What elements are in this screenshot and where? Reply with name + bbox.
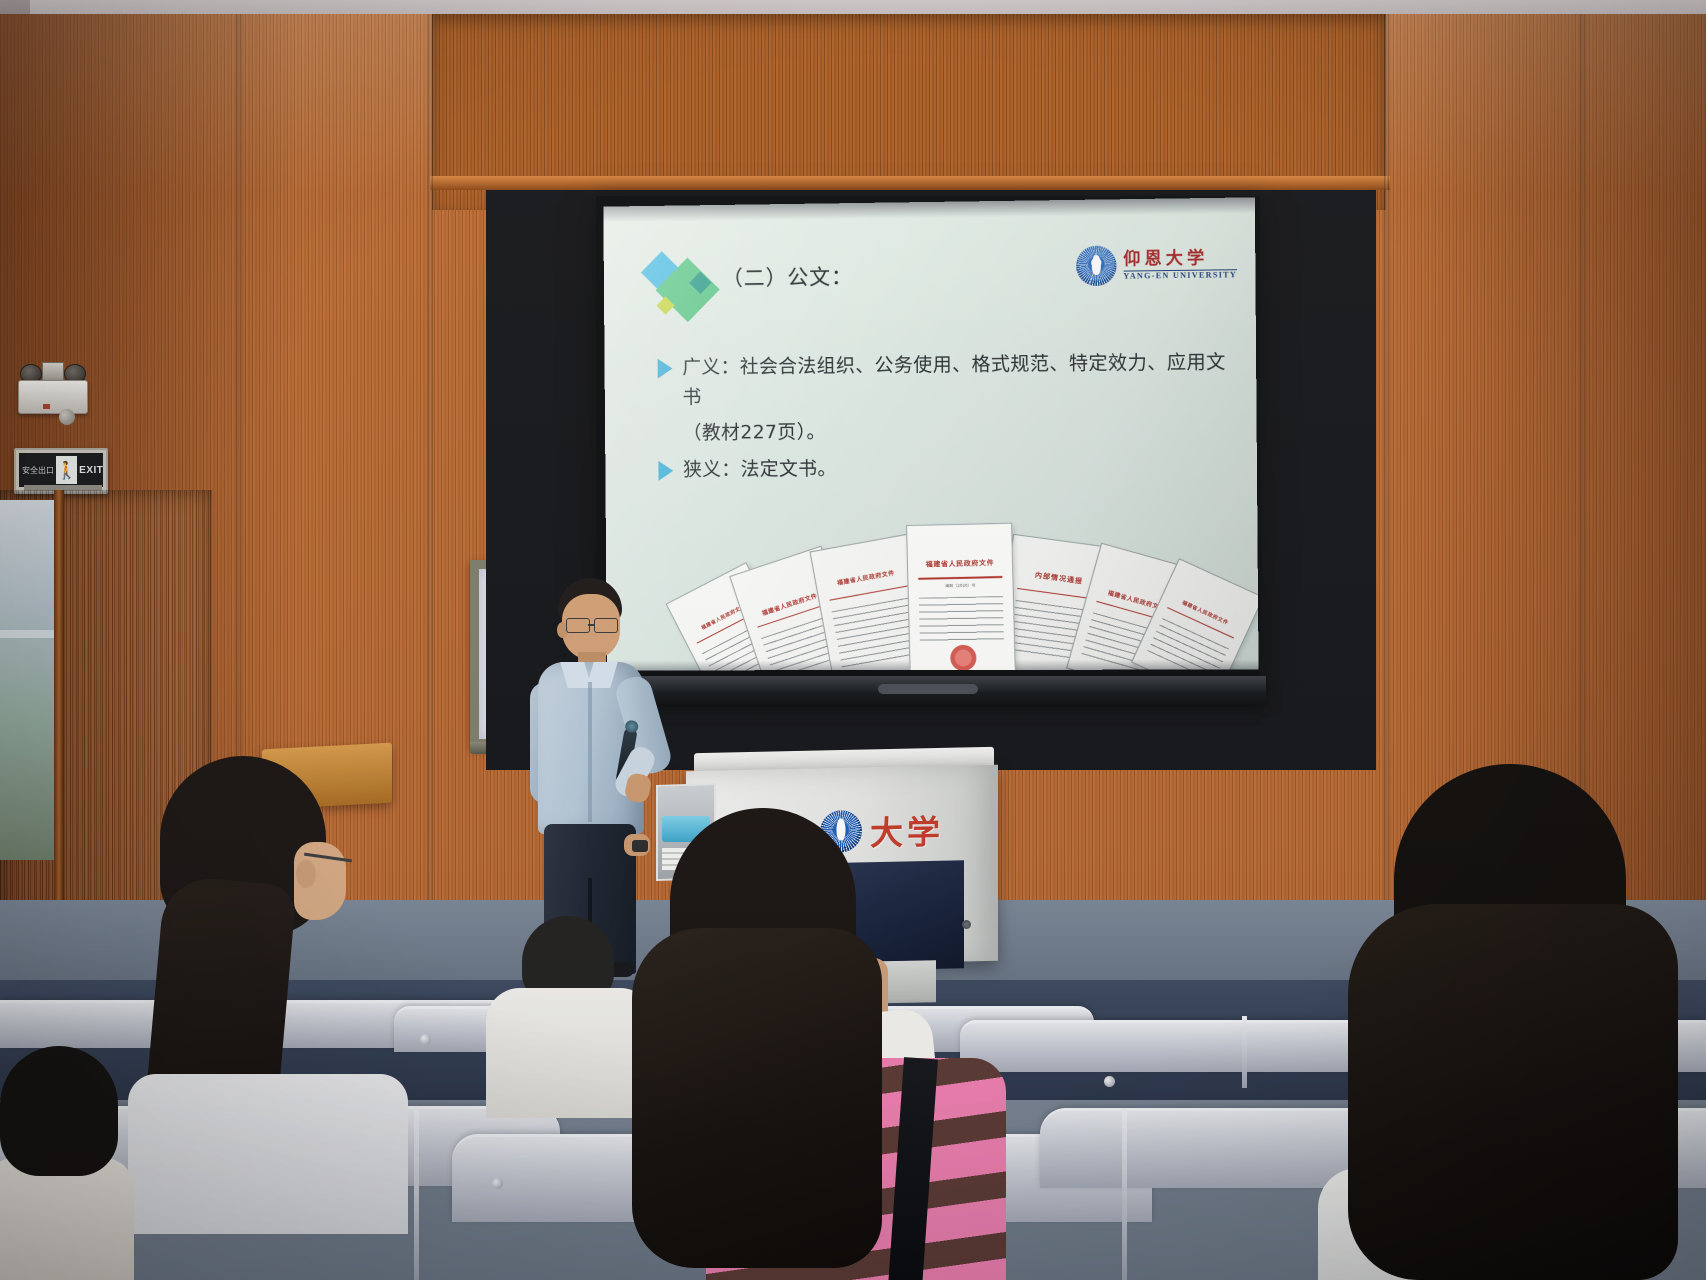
emergency-led-icon <box>43 404 50 409</box>
university-name-cn: 仰恩大学 <box>1123 250 1237 269</box>
document-card-main: 福建省人民政府文件 闽政〔2020〕号 <box>906 523 1016 671</box>
document-title: 福建省人民政府文件 <box>1181 599 1230 626</box>
exit-sign-label-en: EXIT <box>79 465 103 476</box>
flame-icon <box>1091 255 1100 275</box>
emergency-light-body <box>18 380 88 414</box>
presentation-slide: （二）公文： 仰恩大学 YANG-EN UNIVERSITY 广义：社会合法组织… <box>603 197 1258 670</box>
list-item: 狭义：法定文书。 <box>658 451 1232 485</box>
projection-screen-frame: （二）公文： 仰恩大学 YANG-EN UNIVERSITY 广义：社会合法组织… <box>596 196 1260 676</box>
student-far-left-edge <box>0 1046 120 1280</box>
exit-sign: 安全出口 🚶 EXIT <box>14 448 108 494</box>
slide-diamond-decoration <box>647 253 724 325</box>
document-rule <box>919 576 1002 580</box>
door-mullion <box>54 490 64 940</box>
document-fan-image: 福建省人民政府文件 福建省人民政府文件 福建省人民政府文件 <box>710 490 1232 670</box>
student-right-long-hair <box>1282 764 1706 1280</box>
emergency-light-center <box>42 362 64 382</box>
triangle-bullet-icon <box>658 359 673 379</box>
student-head <box>0 1046 118 1176</box>
emergency-light <box>18 362 88 414</box>
slide-bullet-list: 广义：社会合法组织、公务使用、格式规范、特定效力、应用文书 （教材227页）。 … <box>658 347 1233 491</box>
presenter-shirt-placket <box>588 682 592 822</box>
bullet-text-2: 狭义：法定文书。 <box>683 454 837 485</box>
glasses-icon <box>566 618 620 631</box>
seat-fastener <box>492 1178 503 1189</box>
door-glass-panel <box>0 500 58 860</box>
triangle-bullet-icon <box>658 461 673 481</box>
bullet-text-1: 广义：社会合法组织、公务使用、格式规范、特定效力、应用文书 <box>682 347 1232 412</box>
document-body-lines <box>919 596 1003 642</box>
student-torso <box>128 1074 408 1234</box>
document-rule <box>829 586 908 601</box>
projector-screen-bottom-bar[interactable] <box>590 676 1266 704</box>
university-name-en: YANG-EN UNIVERSITY <box>1123 269 1237 280</box>
exit-sign-label-cn: 安全出口 <box>19 465 54 476</box>
student-hair <box>632 928 882 1268</box>
seat-divider <box>1122 1108 1127 1280</box>
bullet-continuation-1: （教材227页）。 <box>683 413 1233 444</box>
seat-fastener <box>420 1034 431 1045</box>
document-title: 福建省人民政府文件 <box>761 591 819 618</box>
document-title: 福建省人民政府文件 <box>836 568 895 587</box>
seat-divider <box>414 1106 419 1280</box>
university-logo: 仰恩大学 YANG-EN UNIVERSITY <box>1076 244 1237 286</box>
screen-pull-handle[interactable] <box>878 684 978 694</box>
wood-ledge <box>430 176 1390 190</box>
student-hair <box>1348 904 1678 1280</box>
student-torso <box>0 1158 134 1280</box>
document-subtitle: 闽政〔2020〕号 <box>945 583 975 590</box>
seat-divider <box>1242 1016 1247 1088</box>
list-item: 广义：社会合法组织、公务使用、格式规范、特定效力、应用文书 <box>658 347 1233 412</box>
student-pink-stripes <box>596 808 996 1280</box>
exit-sign-inner: 安全出口 🚶 EXIT <box>19 453 103 487</box>
emergency-dial-icon <box>59 409 75 425</box>
student-ear <box>296 860 316 888</box>
sun-emblem-icon <box>1076 246 1117 287</box>
document-title: 福建省人民政府文件 <box>926 558 995 569</box>
red-seal-icon <box>950 645 977 671</box>
university-logo-text: 仰恩大学 YANG-EN UNIVERSITY <box>1123 250 1237 281</box>
wall-seam <box>428 14 433 1014</box>
running-person-icon: 🚶 <box>56 456 77 484</box>
slide-title: （二）公文： <box>722 261 853 292</box>
projection-screen[interactable]: （二）公文： 仰恩大学 YANG-EN UNIVERSITY 广义：社会合法组织… <box>603 197 1258 670</box>
lecture-hall-scene: 安全出口 🚶 EXIT （二）公文： <box>0 0 1706 1280</box>
document-title: 内部情况通报 <box>1034 570 1083 586</box>
student-ponytail-left <box>108 756 408 1176</box>
seat-fastener <box>1104 1076 1115 1087</box>
